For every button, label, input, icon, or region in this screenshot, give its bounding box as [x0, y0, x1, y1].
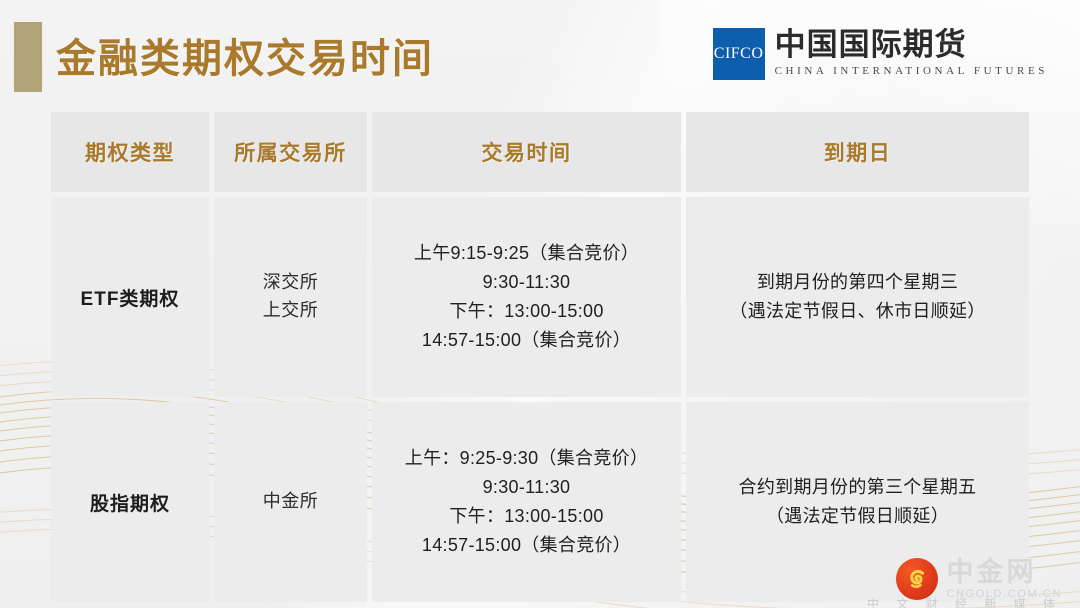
- expiry-line: 合约到期月份的第三个星期五: [739, 473, 977, 502]
- trading-time-line: 上午9:15-9:25（集合竞价）: [414, 239, 639, 268]
- cell-exchange: 中金所: [214, 402, 367, 602]
- trading-time-line: 9:30-11:30: [414, 268, 639, 297]
- exchange-line: 深交所: [263, 269, 319, 297]
- expiry-line: （遇法定节假日、休市日顺延）: [729, 297, 985, 326]
- cell-expiry-date: 到期月份的第四个星期三 （遇法定节假日、休市日顺延）: [686, 197, 1029, 397]
- watermark-name: 中金网: [946, 559, 1062, 586]
- trading-time-line: 14:57-15:00（集合竞价）: [405, 531, 648, 560]
- cngold-wordmark: 中金网 CNGOLD.COM.CN: [946, 559, 1062, 600]
- cifco-mark-icon: CIFCO: [713, 28, 765, 80]
- trading-time-line: 9:30-11:30: [405, 473, 648, 502]
- header-label: 所属交易所: [234, 137, 347, 167]
- title-accent-bar: [14, 22, 42, 92]
- exchange-line: 中金所: [263, 488, 319, 516]
- slide-canvas: 金融类期权交易时间 CIFCO 中国国际期货 CHINA INTERNATION…: [0, 0, 1080, 608]
- brand-wordmark: 中国国际期货 CHINA INTERNATIONAL FUTURES: [775, 28, 1048, 77]
- swirl-glyph: [903, 565, 931, 593]
- option-type-label: ETF类期权: [81, 284, 180, 311]
- table-header-row: 期权类型 所属交易所 交易时间 到期日: [51, 112, 1029, 192]
- slide-header: 金融类期权交易时间 CIFCO 中国国际期货 CHINA INTERNATION…: [0, 0, 1080, 110]
- cell-option-type: 股指期权: [51, 402, 209, 602]
- brand-name-en: CHINA INTERNATIONAL FUTURES: [775, 65, 1048, 77]
- table-row: ETF类期权 深交所 上交所 上午9:15-9:25（集合竞价） 9:30-11…: [51, 197, 1029, 397]
- trading-time-list: 上午：9:25-9:30（集合竞价） 9:30-11:30 下午：13:00-1…: [405, 444, 648, 561]
- exchange-list: 中金所: [263, 488, 319, 516]
- header-cell-expiry-date: 到期日: [686, 112, 1029, 192]
- header-cell-trading-time: 交易时间: [372, 112, 681, 192]
- watermark-tagline: 中 文 财 经 新 媒 体: [867, 595, 1062, 608]
- page-title: 金融类期权交易时间: [56, 26, 434, 84]
- expiry-line: 到期月份的第四个星期三: [729, 268, 985, 297]
- cell-trading-time: 上午：9:25-9:30（集合竞价） 9:30-11:30 下午：13:00-1…: [372, 402, 681, 602]
- brand-logo: CIFCO 中国国际期货 CHINA INTERNATIONAL FUTURES: [713, 28, 1048, 80]
- cngold-swirl-icon: [896, 558, 938, 600]
- expiry-line: （遇法定节假日顺延）: [739, 502, 977, 531]
- cngold-watermark: 中金网 CNGOLD.COM.CN: [896, 558, 1062, 600]
- brand-name-cn: 中国国际期货: [775, 29, 1048, 62]
- exchange-list: 深交所 上交所: [263, 269, 319, 325]
- trading-time-line: 下午：13:00-15:00: [414, 297, 639, 326]
- cell-option-type: ETF类期权: [51, 197, 209, 397]
- header-cell-exchange: 所属交易所: [214, 112, 367, 192]
- trading-time-line: 上午：9:25-9:30（集合竞价）: [405, 444, 648, 473]
- exchange-line: 上交所: [263, 297, 319, 325]
- trading-time-list: 上午9:15-9:25（集合竞价） 9:30-11:30 下午：13:00-15…: [414, 239, 639, 356]
- header-cell-option-type: 期权类型: [51, 112, 209, 192]
- option-type-label: 股指期权: [90, 489, 170, 516]
- cell-exchange: 深交所 上交所: [214, 197, 367, 397]
- header-label: 期权类型: [85, 137, 175, 167]
- header-label: 到期日: [824, 137, 892, 167]
- header-label: 交易时间: [482, 137, 572, 167]
- cell-trading-time: 上午9:15-9:25（集合竞价） 9:30-11:30 下午：13:00-15…: [372, 197, 681, 397]
- watermark-wrapper: 中金网 CNGOLD.COM.CN 中 文 财 经 新 媒 体: [820, 528, 1080, 608]
- trading-time-line: 下午：13:00-15:00: [405, 502, 648, 531]
- trading-time-line: 14:57-15:00（集合竞价）: [414, 326, 639, 355]
- expiry-list: 合约到期月份的第三个星期五 （遇法定节假日顺延）: [739, 473, 977, 531]
- cifco-mark-text: CIFCO: [714, 45, 764, 63]
- expiry-list: 到期月份的第四个星期三 （遇法定节假日、休市日顺延）: [729, 268, 985, 326]
